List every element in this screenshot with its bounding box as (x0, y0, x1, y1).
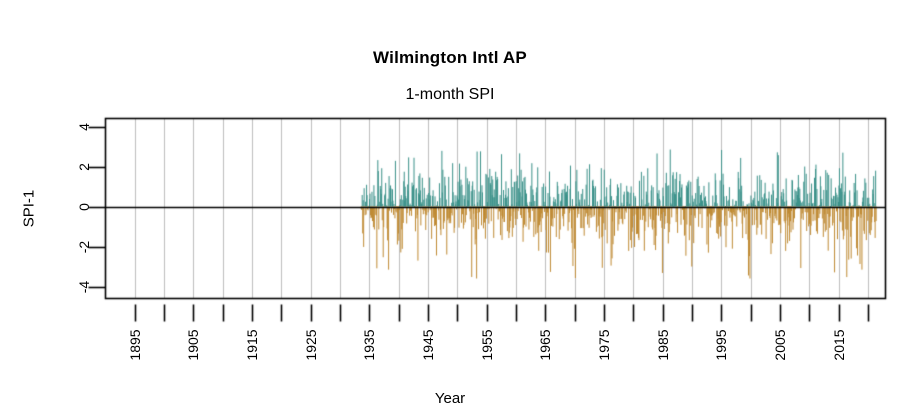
x-tick-label: 2005 (771, 316, 789, 374)
x-tick-label: 1915 (243, 316, 261, 374)
y-tick-label: 0 (75, 187, 93, 227)
x-tick-label: 1925 (302, 316, 320, 374)
x-tick-label: 1965 (536, 316, 554, 374)
x-tick-label: 1895 (126, 316, 144, 374)
x-tick-label: 1935 (360, 316, 378, 374)
chart-title: Wilmington Intl AP (0, 48, 900, 68)
y-axis-label: SPI-1 (21, 169, 38, 249)
x-tick-label: 1955 (478, 316, 496, 374)
x-tick-label: 1945 (419, 316, 437, 374)
chart-subtitle: 1-month SPI (0, 86, 900, 104)
x-tick-label: 1905 (184, 316, 202, 374)
x-tick-label: 2015 (830, 316, 848, 374)
y-tick-label: 4 (75, 107, 93, 147)
y-tick-label: -2 (75, 227, 93, 267)
y-tick-label: -4 (75, 267, 93, 307)
x-tick-label: 1985 (654, 316, 672, 374)
x-tick-label: 1995 (712, 316, 730, 374)
x-axis-label: Year (0, 390, 900, 407)
y-tick-label: 2 (75, 147, 93, 187)
x-tick-label: 1975 (595, 316, 613, 374)
